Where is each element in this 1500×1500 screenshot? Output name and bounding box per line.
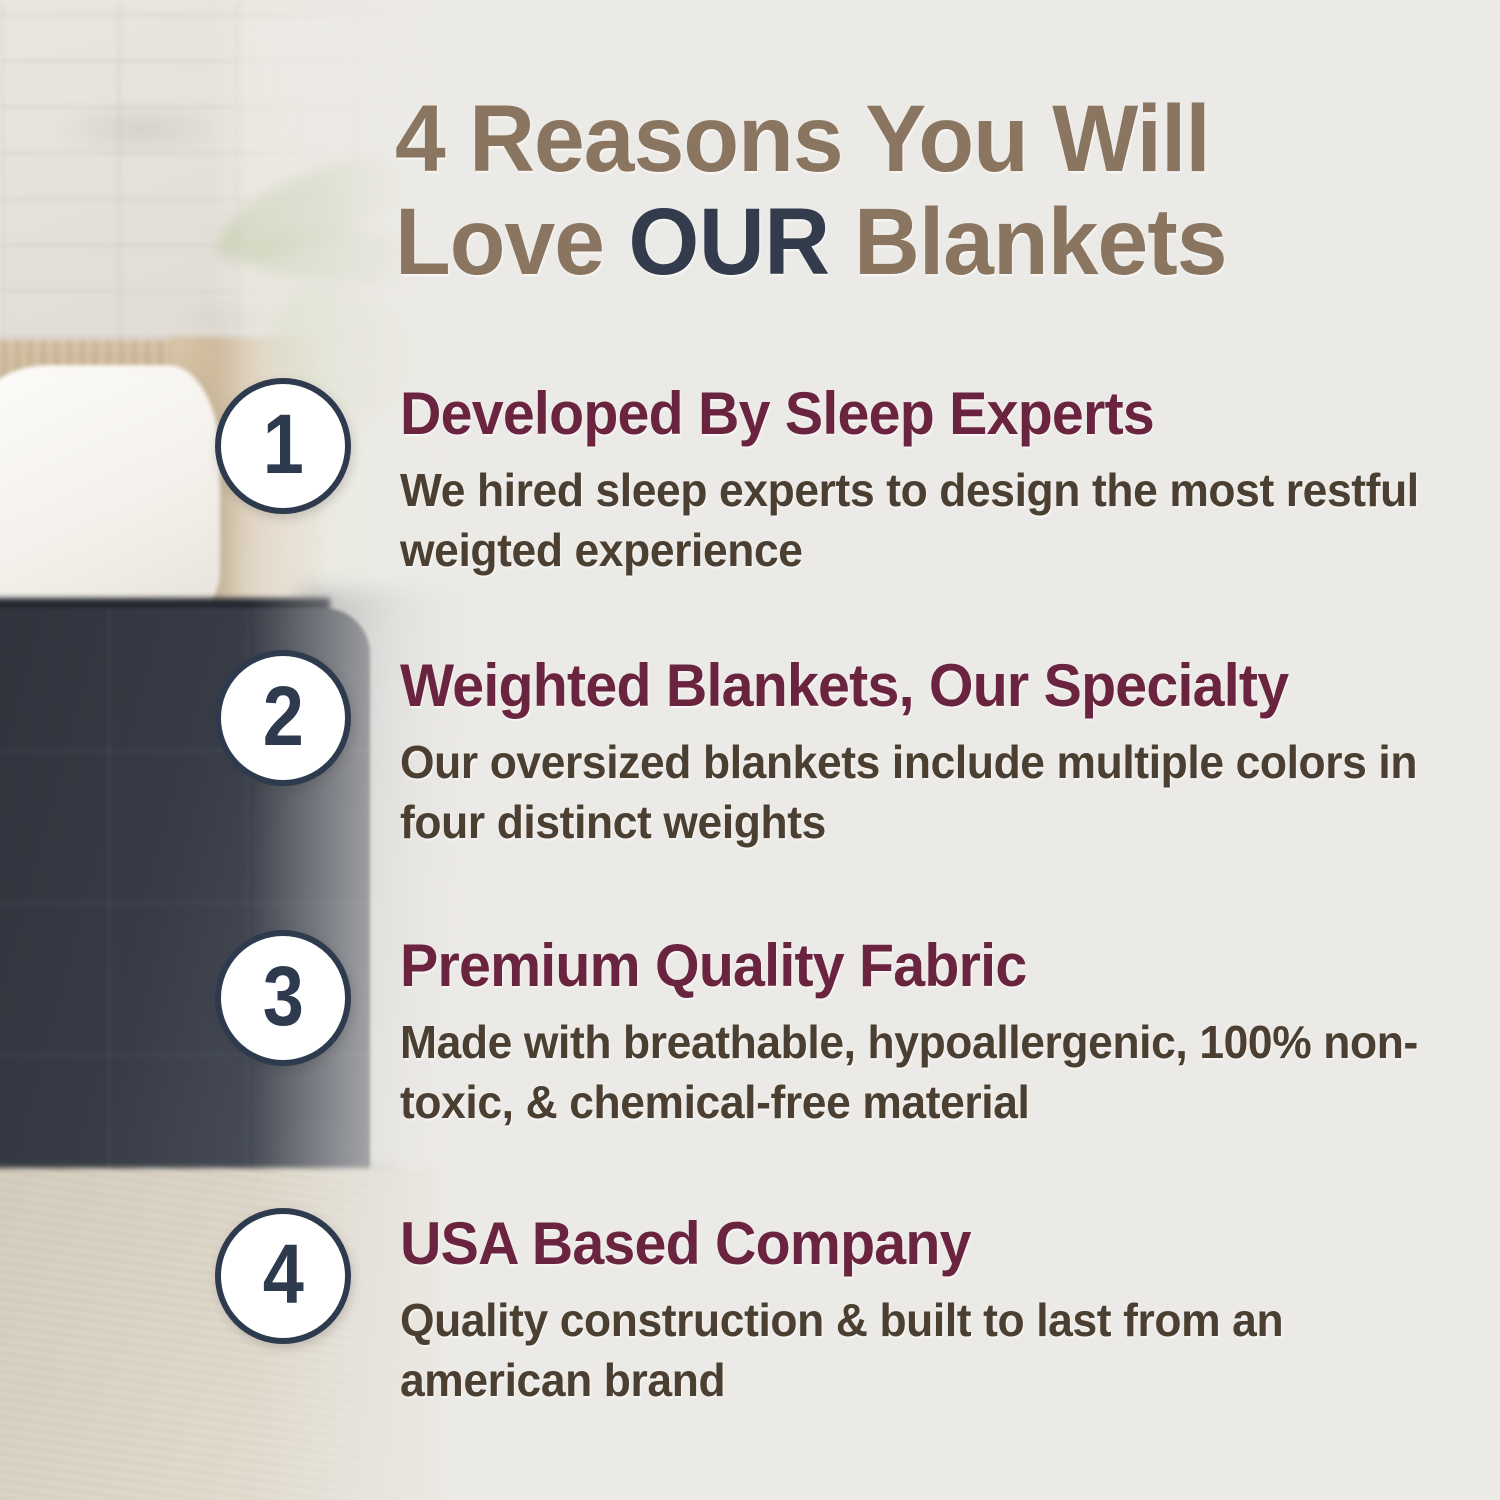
infographic-poster: 4 Reasons You Will Love OUR Blankets 1 D…: [0, 0, 1500, 1500]
reason-title-1: Developed By Sleep Experts: [400, 382, 1436, 446]
headline-accent-our: OUR: [628, 189, 829, 295]
badge-number-label: 4: [262, 1232, 303, 1316]
badge-number-label: 3: [262, 954, 303, 1038]
number-badge-3: 3: [215, 930, 351, 1066]
headline-line-2-after: Blankets: [830, 189, 1227, 295]
page-title: 4 Reasons You Will Love OUR Blankets: [395, 88, 1432, 293]
reason-title-3: Premium Quality Fabric: [400, 934, 1436, 998]
reason-body-2: Our oversized blankets include multiple …: [400, 732, 1447, 853]
reason-body-4: Quality construction & built to last fro…: [400, 1290, 1447, 1411]
reason-title-2: Weighted Blankets, Our Specialty: [400, 654, 1436, 718]
number-badge-2: 2: [215, 650, 351, 786]
reason-title-4: USA Based Company: [400, 1212, 1436, 1276]
reason-body-1: We hired sleep experts to design the mos…: [400, 460, 1447, 581]
number-badge-1: 1: [215, 378, 351, 514]
content-layer: 4 Reasons You Will Love OUR Blankets 1 D…: [0, 0, 1500, 1500]
number-badge-4: 4: [215, 1208, 351, 1344]
reason-text-block-2: Weighted Blankets, Our Specialty Our ove…: [400, 654, 1485, 853]
reason-text-block-3: Premium Quality Fabric Made with breatha…: [400, 934, 1485, 1133]
headline-line-1: 4 Reasons You Will: [395, 86, 1210, 192]
reason-text-block-1: Developed By Sleep Experts We hired slee…: [400, 382, 1485, 581]
badge-number-label: 1: [262, 402, 303, 486]
reason-body-3: Made with breathable, hypoallergenic, 10…: [400, 1012, 1447, 1133]
reason-text-block-4: USA Based Company Quality construction &…: [400, 1212, 1485, 1411]
headline-line-2-before: Love: [395, 189, 628, 295]
badge-number-label: 2: [262, 674, 303, 758]
